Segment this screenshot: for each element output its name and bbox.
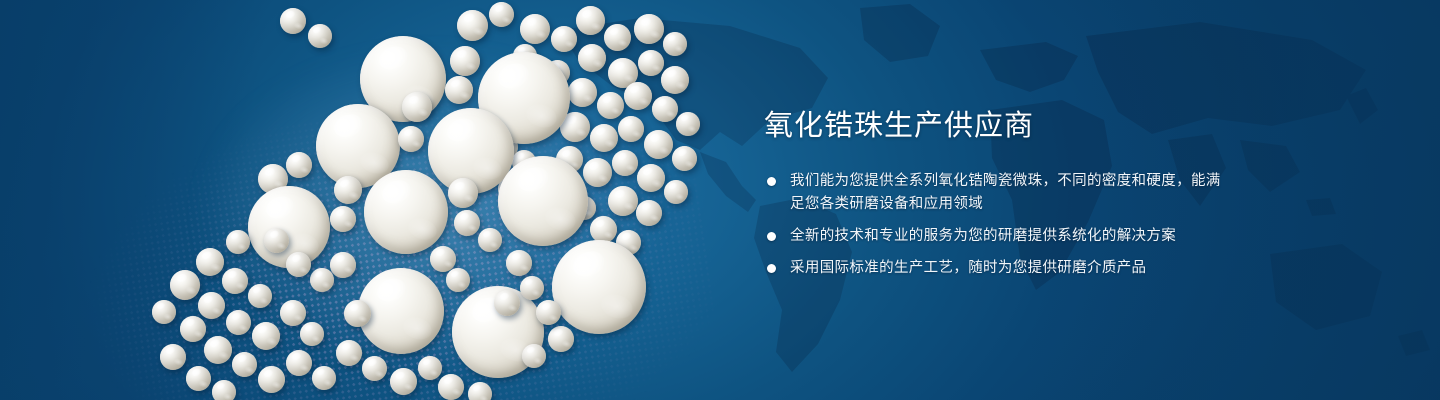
list-item-label: 采用国际标准的生产工艺，随时为您提供研磨介质产品	[790, 260, 1146, 276]
list-item: 我们能为您提供全系列氧化锆陶瓷微珠，不同的密度和硬度，能满足您各类研磨设备和应用…	[764, 170, 1234, 216]
list-item-label: 我们能为您提供全系列氧化锆陶瓷微珠，不同的密度和硬度，能满足您各类研磨设备和应用…	[790, 173, 1221, 212]
list-item: 采用国际标准的生产工艺，随时为您提供研磨介质产品	[764, 257, 1234, 280]
page-title: 氧化锆珠生产供应商	[764, 108, 1234, 144]
list-item-label: 全新的技术和专业的服务为您的研磨提供系统化的解决方案	[790, 228, 1176, 244]
filled-circle-icon	[767, 264, 776, 273]
feature-list: 我们能为您提供全系列氧化锆陶瓷微珠，不同的密度和硬度，能满足您各类研磨设备和应用…	[764, 170, 1234, 280]
promo-banner: 氧化锆珠生产供应商 我们能为您提供全系列氧化锆陶瓷微珠，不同的密度和硬度，能满足…	[0, 0, 1440, 400]
filled-circle-icon	[767, 177, 776, 186]
banner-copy-block: 氧化锆珠生产供应商 我们能为您提供全系列氧化锆陶瓷微珠，不同的密度和硬度，能满足…	[764, 108, 1234, 280]
filled-circle-icon	[767, 232, 776, 241]
list-item: 全新的技术和专业的服务为您的研磨提供系统化的解决方案	[764, 225, 1234, 248]
